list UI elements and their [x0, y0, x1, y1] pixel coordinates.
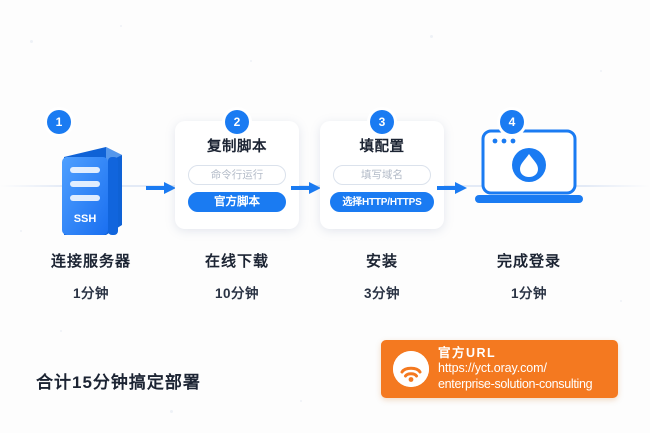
diagram-canvas: 1: [0, 0, 650, 433]
laptop-droplet-icon: [473, 129, 585, 218]
step-2-pill-command[interactable]: 命令行运行: [188, 165, 286, 185]
step-2-card-title: 复制脚本: [175, 135, 299, 156]
step-3-time: 3分钟: [315, 282, 449, 302]
url-title: 官方URL: [438, 346, 592, 362]
step-3-pill-domain[interactable]: 填写域名: [333, 165, 431, 185]
svg-text:SSH: SSH: [74, 213, 97, 225]
step-1-label: 连接服务器: [24, 250, 158, 271]
step-3-card-title: 填配置: [320, 135, 444, 156]
step-2-number: 2: [225, 110, 249, 134]
step-3-number: 3: [370, 110, 394, 134]
summary-text: 合计15分钟搞定部署: [36, 368, 201, 393]
step-3-label: 安装: [315, 250, 449, 271]
url-banner[interactable]: 官方URL https://yct.oray.com/ enterprise-s…: [381, 340, 618, 398]
step-1-time: 1分钟: [24, 282, 158, 302]
step-4-number: 4: [500, 110, 524, 134]
arrow-right-icon-3: [437, 181, 467, 193]
url-texts: 官方URL https://yct.oray.com/ enterprise-s…: [438, 346, 592, 393]
url-line-2[interactable]: enterprise-solution-consulting: [438, 377, 592, 393]
arrow-right-icon-1: [146, 181, 176, 193]
step-1-card: SSH: [29, 121, 153, 229]
arrow-right-icon-2: [291, 181, 321, 193]
oray-wifi-logo-icon: [393, 351, 429, 387]
step-4-card: [467, 121, 591, 229]
step-3-card: 填配置 填写域名 选择HTTP/HTTPS: [320, 121, 444, 229]
step-4-time: 1分钟: [462, 282, 596, 302]
step-2-card: 复制脚本 命令行运行 官方脚本: [175, 121, 299, 229]
server-ssh-icon: SSH: [54, 143, 128, 244]
step-2-pill-official-script[interactable]: 官方脚本: [188, 192, 286, 212]
step-2-time: 10分钟: [170, 282, 304, 302]
step-4-label: 完成登录: [462, 250, 596, 271]
step-3-pill-protocol[interactable]: 选择HTTP/HTTPS: [330, 192, 434, 212]
url-line-1[interactable]: https://yct.oray.com/: [438, 361, 592, 377]
step-1-number: 1: [47, 110, 71, 134]
step-2-label: 在线下载: [170, 250, 304, 271]
